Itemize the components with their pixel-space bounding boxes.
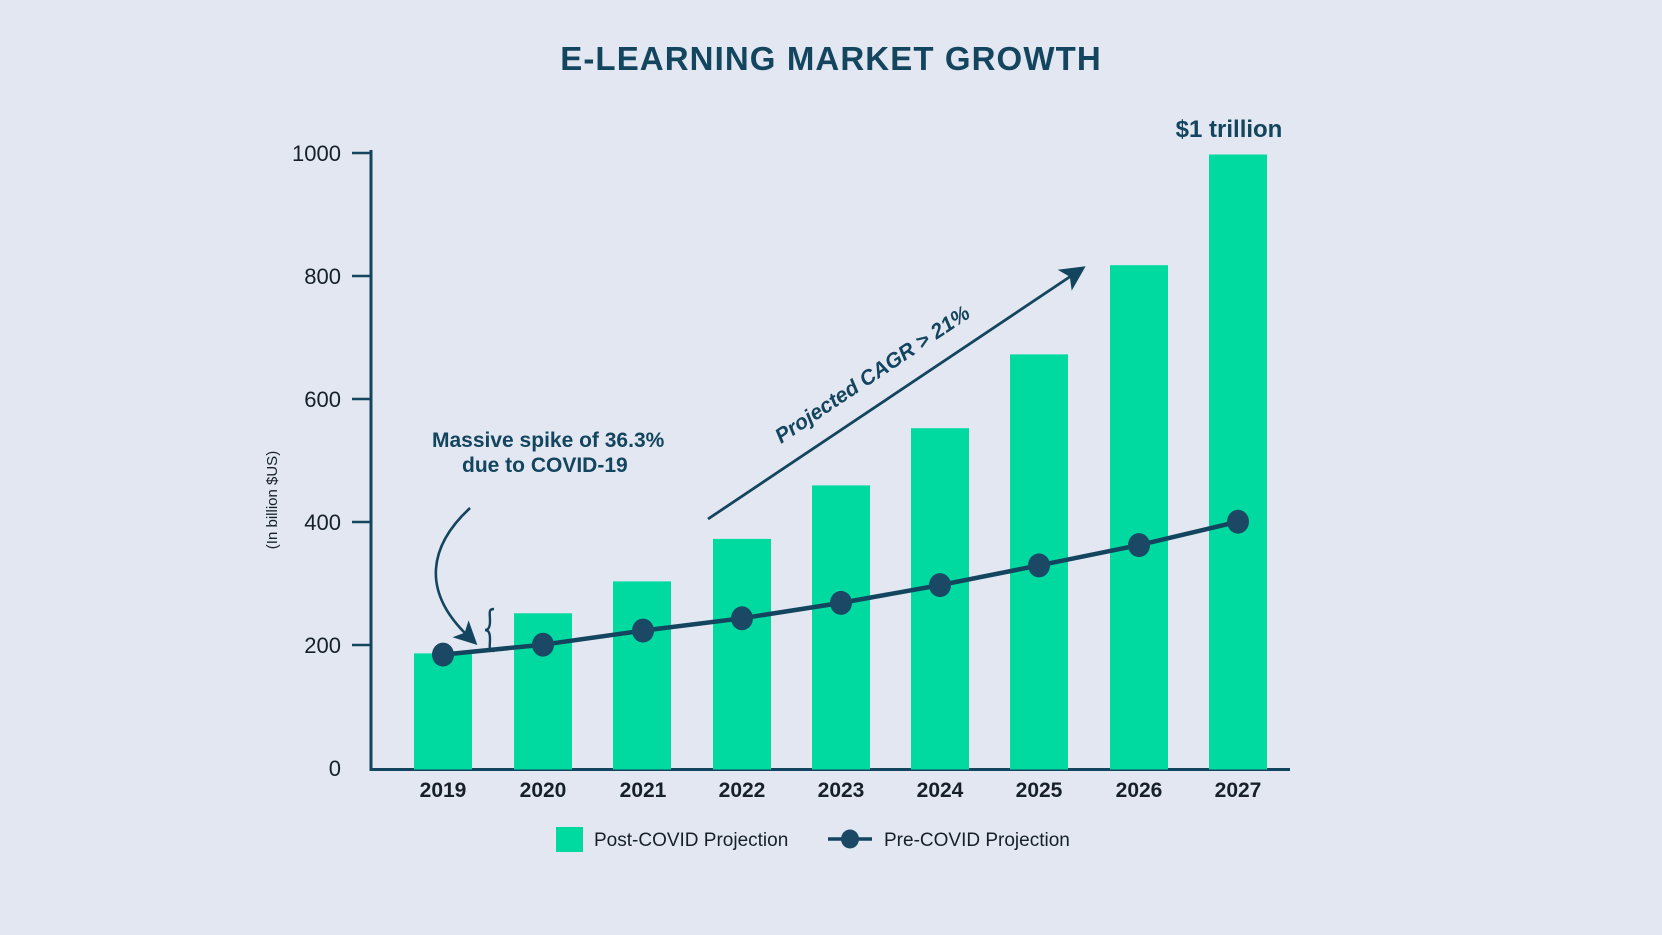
- x-tick-label: 2020: [520, 779, 567, 802]
- bar-2023[interactable]: [812, 485, 870, 769]
- bar-2021[interactable]: [613, 581, 671, 769]
- y-axis-tick-labels: 1000 800 600 400 200 0: [292, 141, 341, 781]
- chart-canvas: 1000 800 600 400 200 0 (In billion $US): [0, 0, 1662, 935]
- y-tick-label: 800: [304, 264, 341, 289]
- x-tick-label: 2023: [818, 779, 865, 802]
- x-tick-label: 2021: [620, 779, 667, 802]
- bar-2026[interactable]: [1110, 265, 1168, 769]
- line-marker-2023[interactable]: [830, 591, 852, 615]
- y-tick-label: 1000: [292, 141, 341, 166]
- line-marker-2020[interactable]: [532, 633, 554, 657]
- line-marker-2024[interactable]: [929, 573, 951, 597]
- line-marker-2021[interactable]: [632, 619, 654, 643]
- chart-legend: Post-COVID Projection Pre-COVID Projecti…: [556, 827, 1070, 852]
- annotation-covid-spike-arrow: [436, 508, 470, 636]
- line-marker-2019[interactable]: [432, 643, 454, 667]
- y-tick-label: 200: [304, 633, 341, 658]
- bar-2024[interactable]: [911, 428, 969, 769]
- x-tick-label: 2022: [719, 779, 766, 802]
- spike-brace: [485, 609, 494, 651]
- legend-label-post-covid: Post-COVID Projection: [594, 830, 788, 851]
- x-tick-label: 2026: [1116, 779, 1163, 802]
- bar-2027[interactable]: [1209, 155, 1267, 770]
- legend-label-pre-covid: Pre-COVID Projection: [884, 830, 1070, 851]
- x-axis-tick-labels: 2019 2020 2021 2022 2023 2024 2025 2026 …: [420, 779, 1262, 802]
- x-tick-label: 2019: [420, 779, 467, 802]
- x-tick-label: 2025: [1016, 779, 1063, 802]
- bar-2022[interactable]: [713, 539, 771, 770]
- bar-2019[interactable]: [414, 653, 472, 769]
- legend-dot-pre-covid: [841, 830, 859, 849]
- y-tick-label: 400: [304, 510, 341, 535]
- y-axis-title: (In billion $US): [264, 451, 281, 549]
- x-tick-label: 2027: [1215, 779, 1262, 802]
- legend-swatch-post-covid: [556, 827, 583, 852]
- y-axis-ticks: [352, 153, 371, 645]
- chart-container: E-LEARNING MARKET GROWTH 1000 800 600: [0, 0, 1662, 935]
- annotation-peak-label: $1 trillion: [1176, 116, 1283, 143]
- y-tick-label: 0: [329, 756, 341, 781]
- annotation-cagr-label: Projected CAGR > 21%: [771, 301, 975, 448]
- line-marker-2027[interactable]: [1227, 510, 1249, 534]
- line-marker-2025[interactable]: [1028, 553, 1050, 577]
- line-marker-2022[interactable]: [731, 606, 753, 630]
- annotation-covid-spike-line1: Massive spike of 36.3%: [432, 429, 665, 452]
- line-marker-2026[interactable]: [1128, 533, 1150, 557]
- annotation-covid-spike-line2: due to COVID-19: [462, 454, 628, 477]
- y-tick-label: 600: [304, 387, 341, 412]
- x-tick-label: 2024: [917, 779, 964, 802]
